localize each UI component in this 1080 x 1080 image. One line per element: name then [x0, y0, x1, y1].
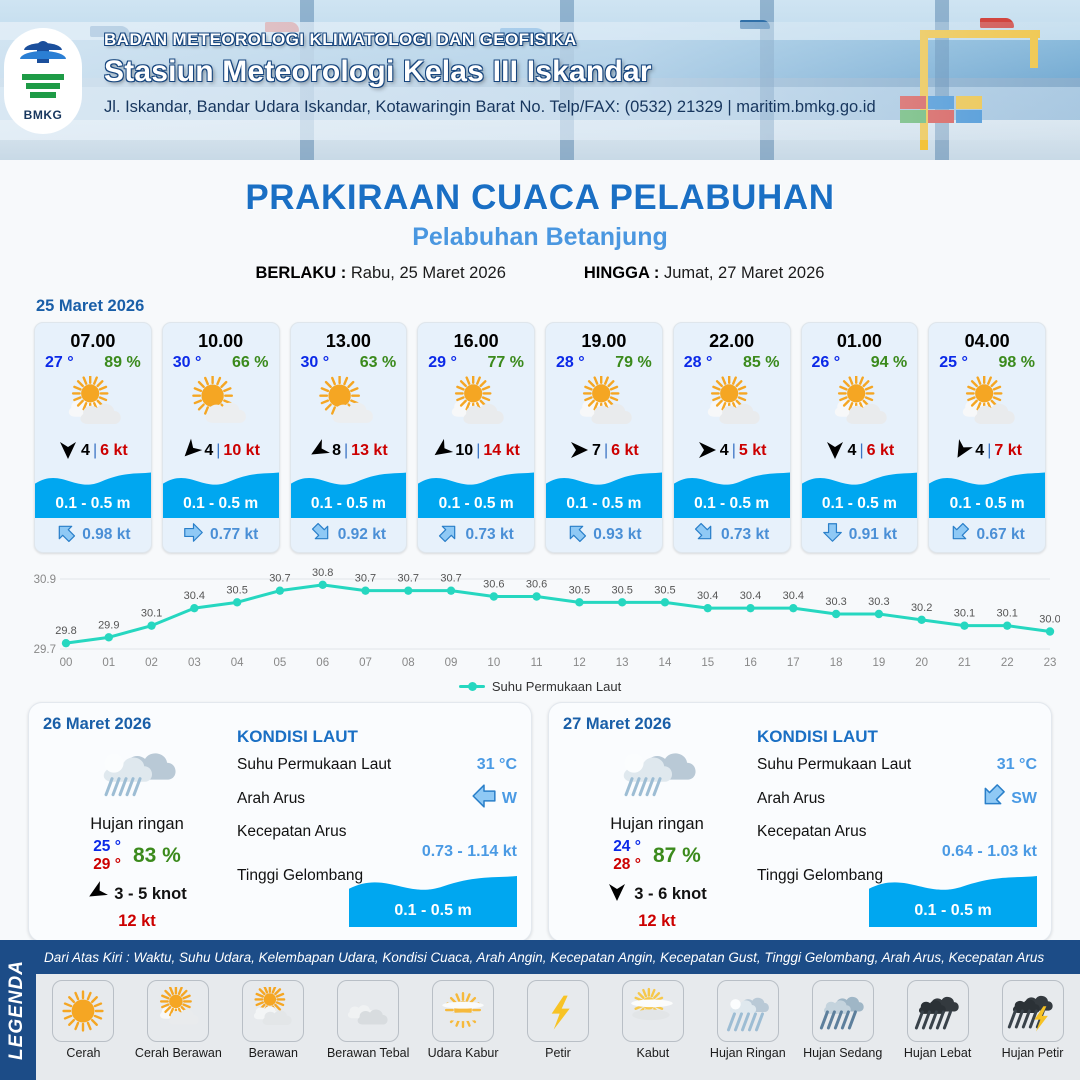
wave-height-value: 0.1 - 0.5 m [929, 495, 1045, 513]
separator: | [344, 442, 348, 460]
card-temperature: 30 ° [173, 354, 202, 372]
weather-hujan-ringan-icon [717, 980, 779, 1042]
card-temp-hum-row: 28 ° 85 % [674, 354, 790, 374]
weather-hujan-ringan-icon [89, 734, 185, 813]
svg-text:15: 15 [701, 657, 714, 669]
legend-item-label: Hujan Sedang [803, 1046, 882, 1060]
sst-label: Suhu Permukaan Laut [237, 756, 391, 774]
wind-speed-value: 13 kt [351, 442, 387, 460]
chart-legend: Suhu Permukaan Laut [0, 679, 1080, 694]
svg-text:30.7: 30.7 [355, 573, 376, 585]
port-name: Pelabuhan Betanjung [0, 223, 1080, 252]
card-wind-row: 10 | 14 kt [418, 436, 534, 466]
card-current-row: 0.91 kt [802, 518, 918, 552]
card-temperature: 28 ° [556, 354, 585, 372]
card-wind-row: 4 | 5 kt [674, 436, 790, 466]
card-humidity: 85 % [743, 354, 779, 372]
hourly-card[interactable]: 19.00 28 ° 79 % 7 | 6 kt 0.1 - 0.5 m 0.9… [545, 322, 663, 553]
wind-direction-arrow-icon [952, 440, 972, 463]
daily-temperature-group: 24 ° 28 ° 87 % [613, 838, 701, 874]
card-temperature: 28 ° [684, 354, 713, 372]
legend-item-label: Cerah [66, 1046, 100, 1060]
wind-speed-value: 14 kt [483, 442, 519, 460]
svg-text:20: 20 [915, 657, 928, 669]
card-temp-hum-row: 27 ° 89 % [35, 354, 151, 374]
svg-text:30.5: 30.5 [569, 584, 590, 596]
wind-direction-arrow-icon [309, 440, 329, 463]
svg-text:00: 00 [60, 657, 73, 669]
card-wind-row: 4 | 7 kt [929, 436, 1045, 466]
svg-text:30.4: 30.4 [697, 590, 718, 602]
bmkg-logo: BMKG [4, 28, 82, 134]
current-direction-arrow-icon [980, 783, 1006, 814]
hourly-cards: 07.00 27 ° 89 % 4 | 6 kt 0.1 - 0.5 m 0.9… [0, 322, 1080, 553]
svg-text:30.7: 30.7 [269, 573, 290, 585]
title-block: PRAKIRAAN CUACA PELABUHAN Pelabuhan Beta… [0, 178, 1080, 283]
weather-cerah-berawan-icon [929, 374, 1045, 436]
current-speed-value: 0.73 kt [721, 526, 769, 544]
current-direction-arrow-icon [311, 522, 332, 548]
sst-row: Suhu Permukaan Laut 31 °C [757, 756, 1037, 774]
wind-speed-value: 10 kt [223, 442, 259, 460]
separator: | [604, 442, 608, 460]
sst-value: 31 °C [997, 756, 1037, 774]
daily-forecast-panel[interactable]: 27 Maret 2026 Hujan ringan 24 ° 28 ° 87 … [548, 702, 1052, 942]
legend-item: Udara Kabur [416, 974, 511, 1060]
svg-text:02: 02 [145, 657, 158, 669]
current-direction-row: Arah Arus SW [757, 783, 1037, 814]
svg-text:10: 10 [487, 657, 500, 669]
weather-cerah-berawan-icon [418, 374, 534, 436]
weather-cerah-berawan-icon [546, 374, 662, 436]
current-direction-arrow-icon [438, 522, 459, 548]
daily-wind-row: 3 - 5 knot [87, 882, 186, 907]
sst-chart: 30.9 29.7 29.829.930.130.430.530.730.830… [20, 565, 1060, 675]
svg-text:30.5: 30.5 [654, 584, 675, 596]
svg-text:11: 11 [531, 657, 543, 669]
wind-direction-value: 10 [455, 442, 473, 460]
current-direction-arrow-icon [55, 522, 76, 548]
daily-date: 26 Maret 2026 [43, 715, 151, 734]
wind-direction-arrow-icon [87, 882, 107, 907]
wind-direction-arrow-icon [432, 440, 452, 463]
svg-text:30.9: 30.9 [34, 574, 56, 586]
svg-text:16: 16 [744, 657, 757, 669]
current-speed-value: 0.91 kt [849, 526, 897, 544]
card-time: 10.00 [163, 323, 279, 354]
svg-text:30.4: 30.4 [783, 590, 804, 602]
wind-direction-arrow-icon [181, 440, 201, 463]
bmkg-logo-waves [20, 72, 66, 104]
legend-item-label: Hujan Lebat [904, 1046, 971, 1060]
daily-temp-min: 24 ° [613, 838, 641, 856]
card-current-row: 0.77 kt [163, 518, 279, 552]
card-wave-band: 0.1 - 0.5 m [35, 466, 151, 518]
current-direction-value: SW [1011, 790, 1037, 808]
svg-text:29.7: 29.7 [34, 644, 56, 656]
card-time: 07.00 [35, 323, 151, 354]
wind-speed-value: 6 kt [867, 442, 895, 460]
card-temp-hum-row: 29 ° 77 % [418, 354, 534, 374]
legend-item-label: Udara Kabur [428, 1046, 499, 1060]
card-temperature: 26 ° [812, 354, 841, 372]
svg-text:30.6: 30.6 [483, 579, 504, 591]
svg-text:30.5: 30.5 [611, 584, 632, 596]
svg-text:06: 06 [316, 657, 329, 669]
wave-height-value: 0.1 - 0.5 m [349, 902, 517, 920]
daily-temp-min: 25 ° [93, 838, 121, 856]
separator: | [476, 442, 480, 460]
daily-gust-speed: 12 kt [118, 912, 156, 931]
weather-cerah-berawan-sun-icon [163, 374, 279, 436]
legend-item: Hujan Petir [985, 974, 1080, 1060]
svg-text:17: 17 [787, 657, 800, 669]
sea-conditions-title: KONDISI LAUT [757, 727, 1037, 747]
station-address: Jl. Iskandar, Bandar Udara Iskandar, Kot… [104, 98, 876, 117]
current-speed-value: 0.92 kt [338, 526, 386, 544]
svg-text:19: 19 [872, 657, 885, 669]
daily-temperature-group: 25 ° 29 ° 83 % [93, 838, 181, 874]
weather-hujan-petir-icon [1002, 980, 1064, 1042]
berlaku-label: BERLAKU : [256, 264, 347, 282]
station-name: Stasiun Meteorologi Kelas III Iskandar [104, 55, 876, 89]
svg-text:18: 18 [830, 657, 843, 669]
card-humidity: 63 % [360, 354, 396, 372]
legenda-note: Dari Atas Kiri : Waktu, Suhu Udara, Kele… [34, 950, 1044, 965]
hourly-card[interactable]: 07.00 27 ° 89 % 4 | 6 kt 0.1 - 0.5 m 0.9… [34, 322, 152, 553]
card-wave-band: 0.1 - 0.5 m [674, 466, 790, 518]
card-temp-hum-row: 28 ° 79 % [546, 354, 662, 374]
agency-name: BADAN METEOROLOGI KLIMATOLOGI DAN GEOFIS… [104, 30, 876, 50]
card-wind-row: 8 | 13 kt [291, 436, 407, 466]
current-direction-group: SW [980, 783, 1037, 814]
legend-item: Cerah [36, 974, 131, 1060]
daily-temp-max: 29 ° [93, 856, 121, 874]
weather-cerah-berawan-sun-icon [291, 374, 407, 436]
legend-label: Suhu Permukaan Laut [492, 679, 621, 694]
weather-cerah-icon [52, 980, 114, 1042]
svg-text:29.9: 29.9 [98, 619, 119, 631]
wind-direction-value: 4 [848, 442, 857, 460]
current-speed-label: Kecepatan Arus [237, 823, 517, 841]
sst-value: 31 °C [477, 756, 517, 774]
wind-direction-value: 4 [81, 442, 90, 460]
wave-height-value: 0.1 - 0.5 m [291, 495, 407, 513]
svg-text:09: 09 [445, 657, 458, 669]
card-current-row: 0.98 kt [35, 518, 151, 552]
card-wind-row: 4 | 10 kt [163, 436, 279, 466]
wind-direction-arrow-icon [58, 440, 78, 463]
hingga-group: HINGGA : Jumat, 27 Maret 2026 [584, 264, 825, 283]
legenda-note-bar: Dari Atas Kiri : Waktu, Suhu Udara, Kele… [34, 940, 1080, 974]
weather-cerah-berawan-icon [35, 374, 151, 436]
legend-item-label: Petir [545, 1046, 571, 1060]
legenda-side-title: LEGENDA [0, 940, 34, 1080]
svg-text:30.1: 30.1 [997, 608, 1018, 620]
wave-height-value: 0.1 - 0.5 m [802, 495, 918, 513]
card-temperature: 25 ° [939, 354, 968, 372]
current-direction-arrow-icon [822, 522, 843, 548]
current-speed-value: 0.64 - 1.03 kt [757, 843, 1037, 861]
card-humidity: 89 % [104, 354, 140, 372]
card-temp-hum-row: 26 ° 94 % [802, 354, 918, 374]
sst-label: Suhu Permukaan Laut [757, 756, 911, 774]
svg-text:30.1: 30.1 [141, 608, 162, 620]
legend-item: Hujan Ringan [700, 974, 795, 1060]
legenda-items: Cerah Cerah Berawan Berawan Berawan Teba… [36, 974, 1080, 1080]
legend-item-label: Berawan [249, 1046, 298, 1060]
sst-row: Suhu Permukaan Laut 31 °C [237, 756, 517, 774]
legend-item-label: Kabut [637, 1046, 670, 1060]
wave-height-value: 0.1 - 0.5 m [674, 495, 790, 513]
current-direction-value: W [502, 790, 517, 808]
weather-cerah-berawan-icon [674, 374, 790, 436]
hourly-card[interactable]: 13.00 30 ° 63 % 8 | 13 kt 0.1 - 0.5 m 0.… [290, 322, 408, 553]
hingga-label: HINGGA : [584, 264, 659, 282]
card-humidity: 79 % [615, 354, 651, 372]
daily-left-column: 27 Maret 2026 Hujan ringan 24 ° 28 ° 87 … [563, 715, 751, 931]
current-direction-row: Arah Arus W [237, 783, 517, 814]
card-wind-row: 4 | 6 kt [802, 436, 918, 466]
card-current-row: 0.92 kt [291, 518, 407, 552]
current-direction-arrow-icon [471, 783, 497, 814]
weather-hujan-ringan-icon [609, 734, 705, 813]
card-wave-band: 0.1 - 0.5 m [802, 466, 918, 518]
svg-text:30.5: 30.5 [226, 584, 247, 596]
svg-text:30.1: 30.1 [954, 608, 975, 620]
page-title: PRAKIRAAN CUACA PELABUHAN [0, 178, 1080, 218]
legend-item: Berawan Tebal [321, 974, 416, 1060]
legend-item: Petir [511, 974, 606, 1060]
svg-text:22: 22 [1001, 657, 1014, 669]
wave-height-badge: 0.1 - 0.5 m [869, 869, 1037, 927]
separator: | [732, 442, 736, 460]
svg-text:30.7: 30.7 [398, 573, 419, 585]
daily-left-column: 26 Maret 2026 Hujan ringan 25 ° 29 ° 83 … [43, 715, 231, 931]
page-header: BMKG BADAN METEOROLOGI KLIMATOLOGI DAN G… [0, 0, 1080, 160]
hourly-card[interactable]: 10.00 30 ° 66 % 4 | 10 kt 0.1 - 0.5 m 0.… [162, 322, 280, 553]
wind-direction-value: 4 [975, 442, 984, 460]
hourly-card[interactable]: 01.00 26 ° 94 % 4 | 6 kt 0.1 - 0.5 m 0.9… [801, 322, 919, 553]
hourly-card[interactable]: 04.00 25 ° 98 % 4 | 7 kt 0.1 - 0.5 m 0.6… [928, 322, 1046, 553]
legend-item-label: Cerah Berawan [135, 1046, 222, 1060]
svg-text:30.3: 30.3 [825, 596, 846, 608]
legend-item: Cerah Berawan [131, 974, 226, 1060]
svg-text:12: 12 [573, 657, 586, 669]
wind-direction-value: 8 [332, 442, 341, 460]
daily-forecast-panel[interactable]: 26 Maret 2026 Hujan ringan 25 ° 29 ° 83 … [28, 702, 532, 942]
current-speed-value: 0.93 kt [593, 526, 641, 544]
svg-text:03: 03 [188, 657, 201, 669]
wave-height-value: 0.1 - 0.5 m [418, 495, 534, 513]
card-wave-band: 0.1 - 0.5 m [546, 466, 662, 518]
current-speed-value: 0.77 kt [210, 526, 258, 544]
daily-wind-row: 3 - 6 knot [607, 882, 706, 907]
current-direction-label: Arah Arus [757, 790, 825, 808]
current-direction-arrow-icon [694, 522, 715, 548]
wind-direction-arrow-icon [697, 440, 717, 463]
svg-text:30.4: 30.4 [184, 590, 205, 602]
current-direction-arrow-icon [566, 522, 587, 548]
card-time: 01.00 [802, 323, 918, 354]
svg-text:13: 13 [616, 657, 629, 669]
legend-item: Hujan Lebat [890, 974, 985, 1060]
weather-udara-kabur-icon [432, 980, 494, 1042]
card-temp-hum-row: 30 ° 66 % [163, 354, 279, 374]
svg-text:30.0: 30.0 [1039, 614, 1060, 626]
card-temp-hum-row: 25 ° 98 % [929, 354, 1045, 374]
wind-direction-arrow-icon [607, 882, 627, 907]
svg-text:30.3: 30.3 [868, 596, 889, 608]
card-time: 19.00 [546, 323, 662, 354]
current-direction-arrow-icon [183, 522, 204, 548]
daily-gust-speed: 12 kt [638, 912, 676, 931]
card-wind-row: 7 | 6 kt [546, 436, 662, 466]
wave-height-value: 0.1 - 0.5 m [869, 902, 1037, 920]
sea-conditions-title: KONDISI LAUT [237, 727, 517, 747]
daily-condition: Hujan ringan [610, 815, 704, 834]
card-humidity: 94 % [871, 354, 907, 372]
svg-text:08: 08 [402, 657, 415, 669]
svg-text:29.8: 29.8 [55, 625, 76, 637]
svg-text:21: 21 [958, 657, 971, 669]
hourly-card[interactable]: 22.00 28 ° 85 % 4 | 5 kt 0.1 - 0.5 m 0.7… [673, 322, 791, 553]
card-wave-band: 0.1 - 0.5 m [418, 466, 534, 518]
daily-sea-conditions: KONDISI LAUT Suhu Permukaan Laut 31 °C A… [231, 715, 517, 931]
legend-marker-icon [459, 685, 485, 688]
wind-speed-value: 7 kt [994, 442, 1022, 460]
separator: | [216, 442, 220, 460]
current-speed-value: 0.98 kt [82, 526, 130, 544]
weather-berawan-icon [242, 980, 304, 1042]
daily-temp-max: 28 ° [613, 856, 641, 874]
legend-item-label: Berawan Tebal [327, 1046, 409, 1060]
card-temperature: 27 ° [45, 354, 74, 372]
card-humidity: 66 % [232, 354, 268, 372]
wave-height-badge: 0.1 - 0.5 m [349, 869, 517, 927]
weather-berawan-tebal-icon [337, 980, 399, 1042]
weather-kabut-icon [622, 980, 684, 1042]
legenda-section: LEGENDA Dari Atas Kiri : Waktu, Suhu Uda… [0, 940, 1080, 1080]
card-current-row: 0.67 kt [929, 518, 1045, 552]
daily-wind-speed: 3 - 5 knot [114, 885, 186, 904]
wind-direction-value: 7 [592, 442, 601, 460]
daily-panels: 26 Maret 2026 Hujan ringan 25 ° 29 ° 83 … [0, 694, 1080, 942]
weather-hujan-sedang-icon [812, 980, 874, 1042]
wind-direction-value: 4 [720, 442, 729, 460]
separator: | [987, 442, 991, 460]
daily-date: 27 Maret 2026 [563, 715, 671, 734]
separator: | [859, 442, 863, 460]
validity-row: BERLAKU : Rabu, 25 Maret 2026 HINGGA : J… [0, 264, 1080, 283]
wave-height-value: 0.1 - 0.5 m [546, 495, 662, 513]
card-humidity: 98 % [999, 354, 1035, 372]
hourly-card[interactable]: 16.00 29 ° 77 % 10 | 14 kt 0.1 - 0.5 m 0… [417, 322, 535, 553]
weather-petir-icon [527, 980, 589, 1042]
daily-wind-speed: 3 - 6 knot [634, 885, 706, 904]
legend-item: Kabut [605, 974, 700, 1060]
svg-text:14: 14 [659, 657, 672, 669]
card-wave-band: 0.1 - 0.5 m [163, 466, 279, 518]
card-time: 13.00 [291, 323, 407, 354]
wind-direction-arrow-icon [569, 440, 589, 463]
weather-cerah-berawan-icon [147, 980, 209, 1042]
wave-height-value: 0.1 - 0.5 m [163, 495, 279, 513]
current-speed-row: Kecepatan Arus 0.64 - 1.03 kt [757, 823, 1037, 861]
card-humidity: 77 % [488, 354, 524, 372]
hingga-value: Jumat, 27 Maret 2026 [664, 264, 825, 282]
header-text-block: BADAN METEOROLOGI KLIMATOLOGI DAN GEOFIS… [104, 30, 876, 117]
svg-text:30.2: 30.2 [911, 602, 932, 614]
wind-direction-value: 4 [204, 442, 213, 460]
current-speed-value: 0.73 - 1.14 kt [237, 843, 517, 861]
card-current-row: 0.73 kt [674, 518, 790, 552]
svg-text:05: 05 [274, 657, 287, 669]
wind-speed-value: 5 kt [739, 442, 767, 460]
weather-cerah-berawan-icon [802, 374, 918, 436]
current-direction-group: W [471, 783, 517, 814]
svg-text:01: 01 [102, 657, 115, 669]
hourly-date-label: 25 Maret 2026 [36, 297, 1080, 316]
svg-text:30.4: 30.4 [740, 590, 761, 602]
current-direction-label: Arah Arus [237, 790, 305, 808]
card-time: 16.00 [418, 323, 534, 354]
card-wave-band: 0.1 - 0.5 m [291, 466, 407, 518]
legend-item-label: Hujan Petir [1002, 1046, 1064, 1060]
current-speed-row: Kecepatan Arus 0.73 - 1.14 kt [237, 823, 517, 861]
card-current-row: 0.73 kt [418, 518, 534, 552]
daily-condition: Hujan ringan [90, 815, 184, 834]
svg-text:30.8: 30.8 [312, 567, 333, 579]
card-current-row: 0.93 kt [546, 518, 662, 552]
separator: | [93, 442, 97, 460]
berlaku-value: Rabu, 25 Maret 2026 [351, 264, 506, 282]
card-temp-hum-row: 30 ° 63 % [291, 354, 407, 374]
legend-item: Berawan [226, 974, 321, 1060]
svg-text:23: 23 [1044, 657, 1057, 669]
legend-item: Hujan Sedang [795, 974, 890, 1060]
card-wind-row: 4 | 6 kt [35, 436, 151, 466]
berlaku-group: BERLAKU : Rabu, 25 Maret 2026 [256, 264, 506, 283]
bmkg-logo-arc [20, 41, 66, 69]
current-direction-arrow-icon [949, 522, 970, 548]
wave-height-value: 0.1 - 0.5 m [35, 495, 151, 513]
card-temperature: 30 ° [301, 354, 330, 372]
bmkg-logo-text: BMKG [24, 108, 63, 122]
daily-sea-conditions: KONDISI LAUT Suhu Permukaan Laut 31 °C A… [751, 715, 1037, 931]
daily-humidity: 83 % [133, 844, 181, 868]
wind-speed-value: 6 kt [100, 442, 128, 460]
svg-text:30.7: 30.7 [440, 573, 461, 585]
svg-text:30.6: 30.6 [526, 579, 547, 591]
current-speed-label: Kecepatan Arus [757, 823, 1037, 841]
daily-humidity: 87 % [653, 844, 701, 868]
card-wave-band: 0.1 - 0.5 m [929, 466, 1045, 518]
current-speed-value: 0.67 kt [976, 526, 1024, 544]
wind-speed-value: 6 kt [611, 442, 639, 460]
card-time: 22.00 [674, 323, 790, 354]
weather-hujan-lebat-icon [907, 980, 969, 1042]
card-time: 04.00 [929, 323, 1045, 354]
svg-text:07: 07 [359, 657, 372, 669]
svg-text:04: 04 [231, 657, 244, 669]
legend-item-label: Hujan Ringan [710, 1046, 786, 1060]
card-temperature: 29 ° [428, 354, 457, 372]
current-speed-value: 0.73 kt [465, 526, 513, 544]
wind-direction-arrow-icon [825, 440, 845, 463]
